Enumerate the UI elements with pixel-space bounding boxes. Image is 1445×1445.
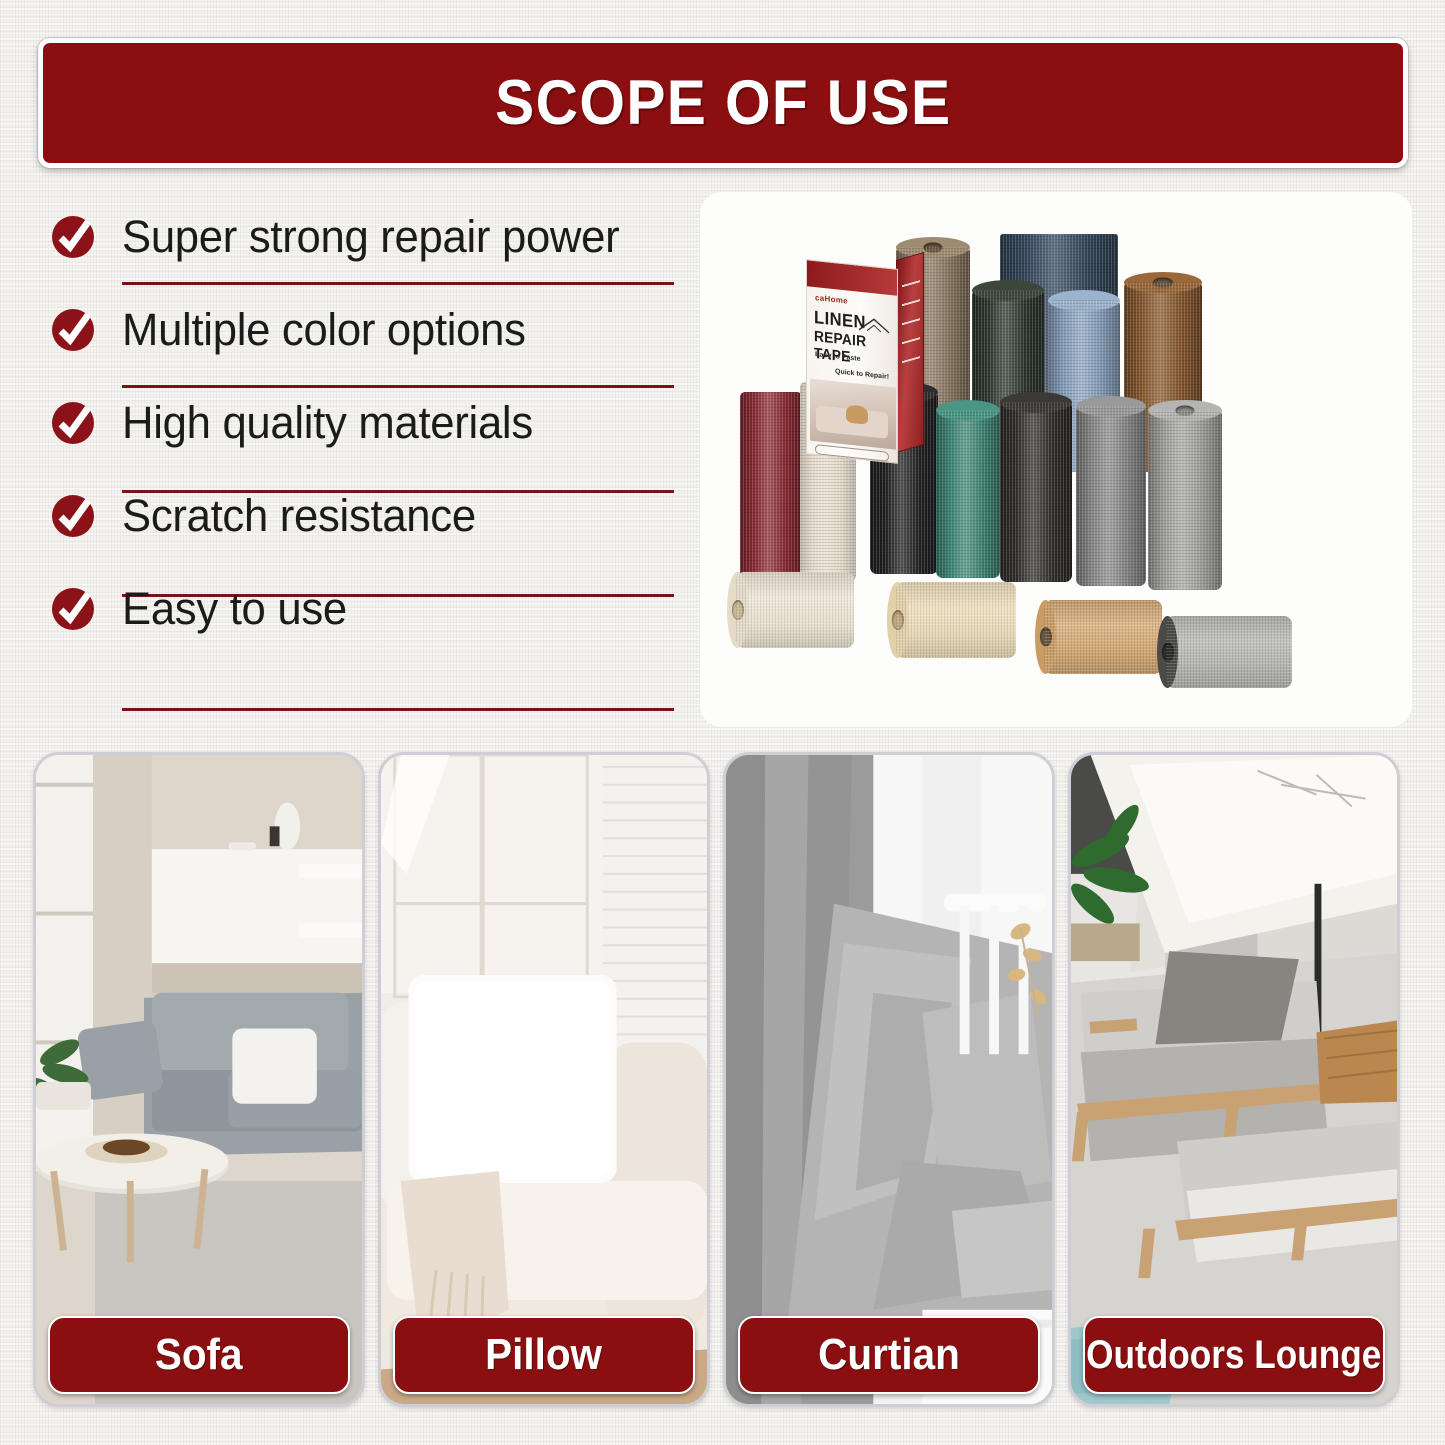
package-front-panel: caHome LINEN REPAIR TAPE Easy to Paste Q… <box>806 259 898 464</box>
package-side-panel <box>896 252 924 453</box>
feature-item: Multiple color options <box>40 283 680 376</box>
caption-label: Sofa <box>155 1330 243 1380</box>
tape-roll-tan-lying <box>1044 600 1162 674</box>
check-circle-icon <box>50 400 96 446</box>
package-tagline-2: Quick to Repair! <box>835 368 889 381</box>
tape-roll-silver-lying <box>1166 616 1292 688</box>
caption-label: Pillow <box>486 1330 603 1380</box>
feature-divider <box>122 708 674 711</box>
pillow-scene-image <box>381 755 707 1404</box>
panel-caption-outdoors-lounge: Outdoors Lounge <box>1083 1316 1385 1394</box>
house-roof-icon <box>857 314 891 336</box>
tape-roll-burgundy <box>740 392 802 582</box>
panel-caption-sofa: Sofa <box>48 1316 350 1394</box>
feature-label: Multiple color options <box>122 304 526 356</box>
page-title: SCOPE OF USE <box>495 67 951 139</box>
feature-label: Easy to use <box>122 583 347 635</box>
tape-roll-mid-gray <box>1076 406 1146 586</box>
gallery-panel-pillow[interactable]: Pillow <box>378 752 710 1407</box>
feature-label: Super strong repair power <box>122 211 619 263</box>
feature-item: Scratch resistance <box>40 469 680 562</box>
panel-caption-pillow: Pillow <box>393 1316 695 1394</box>
tape-roll-light-gray <box>1148 410 1222 590</box>
tape-roll-charcoal <box>1000 402 1072 582</box>
feature-label: High quality materials <box>122 397 533 449</box>
feature-item: High quality materials <box>40 376 680 469</box>
tape-roll-cream-lying <box>736 572 854 648</box>
caption-label: Curtian <box>818 1330 960 1380</box>
outdoors-lounge-scene-image <box>1071 755 1397 1404</box>
product-package-box: caHome LINEN REPAIR TAPE Easy to Paste Q… <box>806 254 924 459</box>
product-photo: caHome LINEN REPAIR TAPE Easy to Paste Q… <box>700 192 1412 727</box>
product-photo-card: caHome LINEN REPAIR TAPE Easy to Paste Q… <box>700 192 1412 727</box>
caption-label: Outdoors Lounge <box>1086 1333 1381 1378</box>
gallery-panel-outdoors-lounge[interactable]: Outdoors Lounge <box>1068 752 1400 1407</box>
check-circle-icon <box>50 307 96 353</box>
feature-label: Scratch resistance <box>122 490 476 542</box>
feature-item: Super strong repair power <box>40 190 680 283</box>
tape-roll-beige-lying <box>896 582 1016 658</box>
check-circle-icon <box>50 493 96 539</box>
package-title-line2: REPAIR TAPE <box>814 328 890 370</box>
curtain-scene-image <box>726 755 1052 1404</box>
scope-of-use-banner: SCOPE OF USE <box>38 38 1408 168</box>
gallery-panel-curtain[interactable]: Curtian <box>723 752 1055 1407</box>
check-circle-icon <box>50 214 96 260</box>
use-case-gallery: Sofa <box>33 752 1415 1412</box>
tape-roll-teal <box>936 410 1000 578</box>
package-photo-scene <box>810 379 896 450</box>
package-brand-logo: caHome <box>815 293 848 305</box>
panel-caption-curtain: Curtian <box>738 1316 1040 1394</box>
gallery-panel-sofa[interactable]: Sofa <box>33 752 365 1407</box>
sofa-scene-image <box>36 755 362 1404</box>
feature-item: Easy to use <box>40 562 680 655</box>
check-circle-icon <box>50 586 96 632</box>
feature-list: Super strong repair power Multiple color… <box>40 190 680 735</box>
